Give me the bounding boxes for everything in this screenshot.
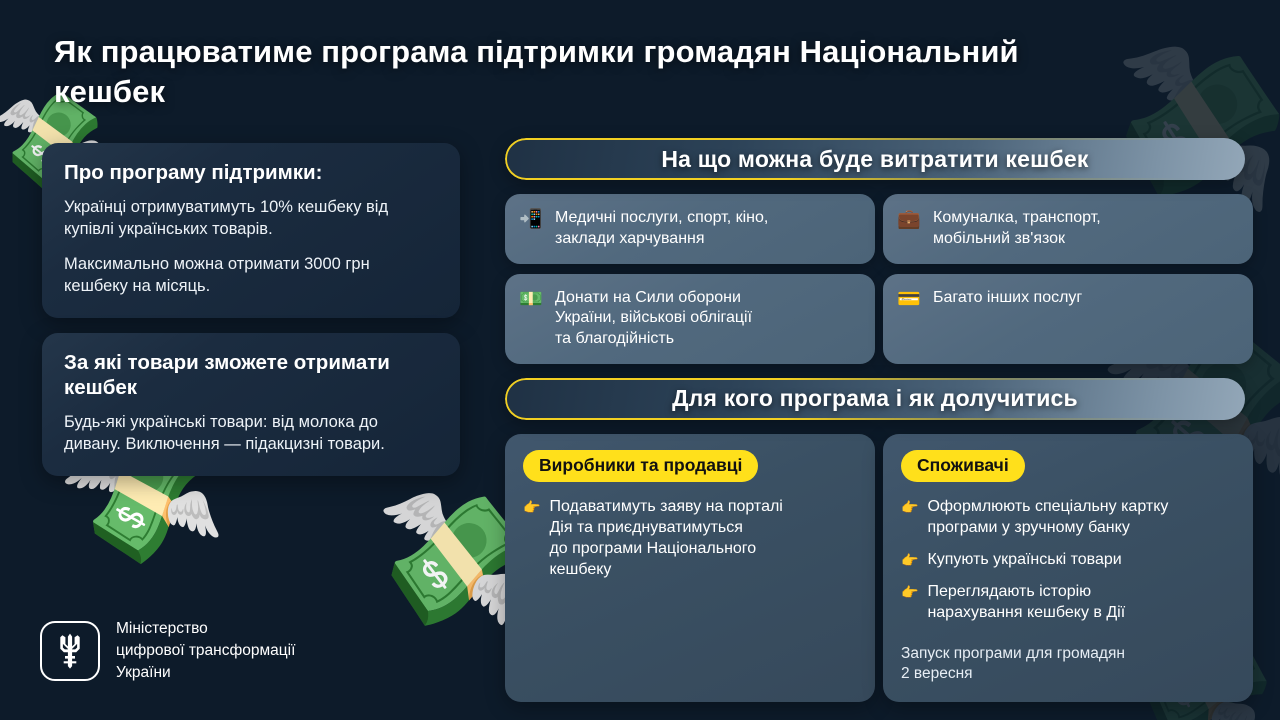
eligible-goods-paragraph: Будь-які українські товари: від молока д…	[64, 412, 438, 456]
infographic-page: 💸 💸 💸 💸 💸 💸 Як працюватиме програма підт…	[0, 0, 1280, 720]
pointing-hand-icon: 👉	[523, 496, 540, 517]
pointing-hand-icon: 👉	[901, 581, 918, 602]
audience-card-producers: Виробники та продавці 👉 Подаватимуть зая…	[505, 434, 875, 702]
consumers-bullet-3: 👉 Переглядають історію нарахування кешбе…	[901, 581, 1235, 623]
consumers-bullet-1: 👉 Оформлюють спеціальну картку програми …	[901, 496, 1235, 538]
launch-date-note: Запуск програми для громадян 2 вересня	[901, 644, 1235, 685]
spend-section-header: На що можна буде витратити кешбек	[505, 138, 1245, 180]
spend-card-donations-text: Донати на Сили оборони України, військов…	[555, 288, 752, 350]
credit-card-icon: 💳	[897, 288, 921, 312]
spend-card-other-text: Багато інших послуг	[933, 288, 1082, 309]
about-program-heading: Про програму підтримки:	[64, 160, 438, 185]
producers-bullet-1-text: Подаватимуть заяву на порталі Дія та при…	[549, 496, 782, 580]
audience-card-consumers: Споживачі 👉 Оформлюють спеціальну картку…	[883, 434, 1253, 702]
briefcase-icon: 💼	[897, 208, 921, 232]
producers-bullet-1: 👉 Подаватимуть заяву на порталі Дія та п…	[523, 496, 857, 580]
banknote-icon: 💵	[519, 288, 543, 312]
spend-options-grid: 📲 Медичні послуги, спорт, кіно, заклади …	[505, 194, 1245, 364]
pointing-hand-icon: 👉	[901, 549, 918, 570]
consumers-bullet-2: 👉 Купують українські товари	[901, 549, 1235, 570]
about-program-paragraph-1: Українці отримуватимуть 10% кешбеку від …	[64, 197, 438, 241]
pointing-hand-icon: 👉	[901, 496, 918, 517]
eligible-goods-card: За які товари зможете отримати кешбек Бу…	[42, 333, 460, 476]
spend-section-header-label: На що можна буде витратити кешбек	[661, 146, 1088, 173]
consumers-bullet-3-text: Переглядають історію нарахування кешбеку…	[927, 581, 1125, 623]
spend-card-other: 💳 Багато інших послуг	[883, 274, 1253, 364]
ministry-logo-block: Міністерство цифрової трансформації Укра…	[40, 618, 295, 684]
about-program-paragraph-2: Максимально можна отримати 3000 грн кешб…	[64, 254, 438, 298]
spend-card-medical-text: Медичні послуги, спорт, кіно, заклади ха…	[555, 208, 768, 250]
ministry-name: Міністерство цифрової трансформації Укра…	[116, 618, 295, 684]
spend-card-utilities-text: Комуналка, транспорт, мобільний зв'язок	[933, 208, 1101, 250]
spend-card-medical: 📲 Медичні послуги, спорт, кіно, заклади …	[505, 194, 875, 264]
about-program-card: Про програму підтримки: Українці отримув…	[42, 143, 460, 318]
right-column: На що можна буде витратити кешбек 📲 Меди…	[505, 138, 1245, 702]
left-column: Про програму підтримки: Українці отримув…	[42, 143, 460, 491]
mobile-phone-with-arrow-icon: 📲	[519, 208, 543, 232]
ukraine-trident-logo	[40, 621, 100, 681]
audience-grid: Виробники та продавці 👉 Подаватимуть зая…	[505, 434, 1245, 702]
spend-card-donations: 💵 Донати на Сили оборони України, військ…	[505, 274, 875, 364]
eligible-goods-heading: За які товари зможете отримати кешбек	[64, 350, 438, 400]
spend-card-utilities: 💼 Комуналка, транспорт, мобільний зв'язо…	[883, 194, 1253, 264]
consumers-bullet-2-text: Купують українські товари	[927, 549, 1121, 570]
consumers-badge: Споживачі	[901, 450, 1025, 482]
producers-badge: Виробники та продавці	[523, 450, 758, 482]
consumers-bullet-1-text: Оформлюють спеціальну картку програми у …	[927, 496, 1168, 538]
audience-section-header-label: Для кого програма і як долучитись	[672, 385, 1078, 412]
audience-section-header: Для кого програма і як долучитись	[505, 378, 1245, 420]
page-title: Як працюватиме програма підтримки громад…	[54, 32, 1054, 111]
